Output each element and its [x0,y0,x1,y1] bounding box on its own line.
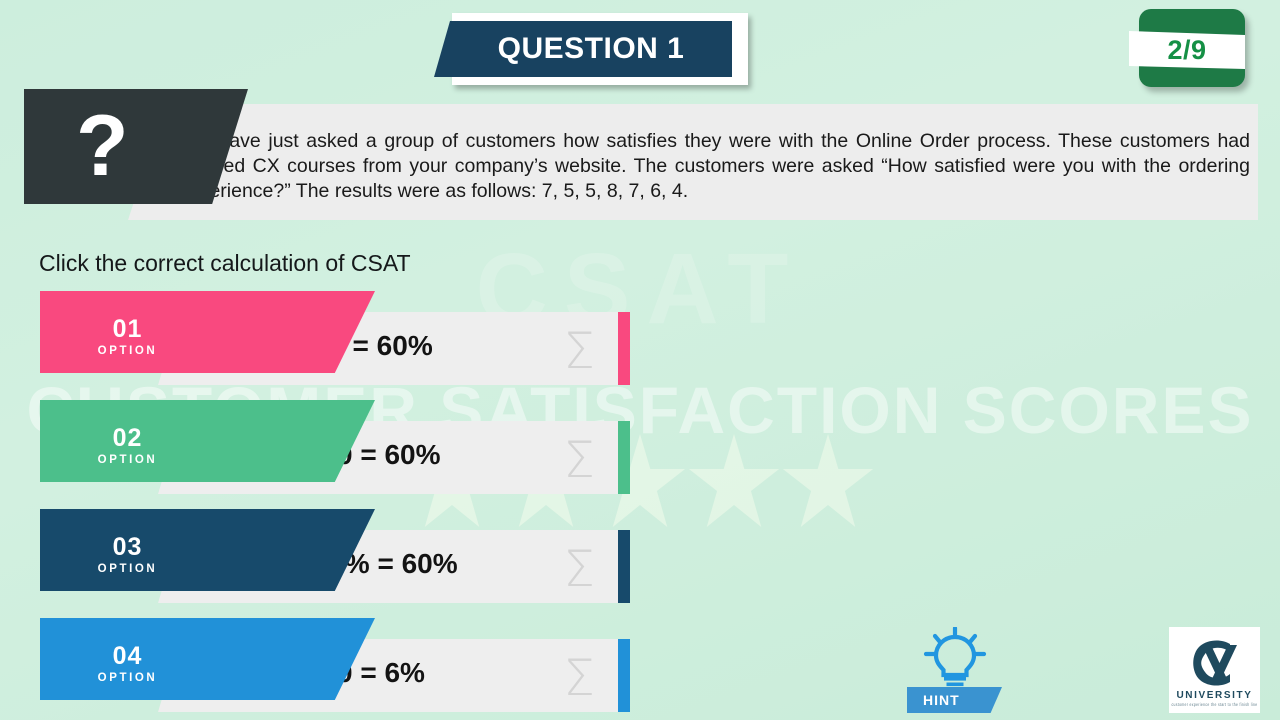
cx-monogram-icon [1184,638,1246,688]
option-edge-02 [618,421,630,494]
logo-tagline: customer experience the start to the fin… [1172,702,1258,707]
sigma-icon: Σ [563,544,595,594]
hint-band[interactable]: HINT [907,687,1002,713]
lightbulb-icon [920,627,990,691]
bulb-glass [936,637,974,675]
question-text-panel: You have just asked a group of customers… [128,104,1258,220]
option-number-04: 04 [40,642,215,671]
page-counter-text: 2/9 [1167,35,1206,66]
question-mark-block: ? [24,89,248,204]
option-tab-03[interactable]: 03 OPTION [40,509,375,591]
sigma-icon: Σ [563,653,595,703]
option-tab-01[interactable]: 01 OPTION [40,291,375,373]
prompt-text: Click the correct calculation of CSAT [39,250,411,277]
option-word-04: OPTION [40,672,215,684]
option-word-02: OPTION [40,454,215,466]
question-text: You have just asked a group of customers… [178,129,1250,204]
hint-button[interactable]: HINT [908,627,1004,715]
option-number-02: 02 [40,424,215,453]
option-number-01: 01 [40,315,215,344]
question-banner-inner: QUESTION 1 [434,21,732,77]
option-row-03[interactable]: 03 OPTION 42/7 x 10% = 60% Σ [0,509,1280,603]
option-edge-04 [618,639,630,712]
option-word-03: OPTION [40,563,215,575]
option-tab-04[interactable]: 04 OPTION [40,618,375,700]
option-edge-01 [618,312,630,385]
option-tab-02[interactable]: 02 OPTION [40,400,375,482]
hint-label: HINT [923,692,960,708]
option-edge-03 [618,530,630,603]
sigma-icon: Σ [563,326,595,376]
logo: UNIVERSITY customer experience the start… [1169,627,1260,713]
question-mark-icon: ? [76,103,129,189]
logo-name: UNIVERSITY [1176,690,1252,701]
option-number-03: 03 [40,533,215,562]
options-list: 01 OPTION 30/5 x 10 = 60% Σ 02 OPTION 42… [0,291,1280,720]
page-counter-band: 2/9 [1129,31,1245,69]
question-banner: QUESTION 1 [452,13,748,85]
option-row-04[interactable]: 04 OPTION 30 /5 x 10 = 6% Σ [0,618,1280,712]
question-title: QUESTION 1 [482,32,685,66]
page-counter-badge: 2/9 [1139,9,1245,87]
option-row-02[interactable]: 02 OPTION 42/7 x 10 = 60% Σ [0,400,1280,494]
bulb-base-1 [944,677,966,681]
option-row-01[interactable]: 01 OPTION 30/5 x 10 = 60% Σ [0,291,1280,385]
option-word-01: OPTION [40,345,215,357]
bulb-base-2 [947,683,964,687]
sigma-icon: Σ [563,435,595,485]
